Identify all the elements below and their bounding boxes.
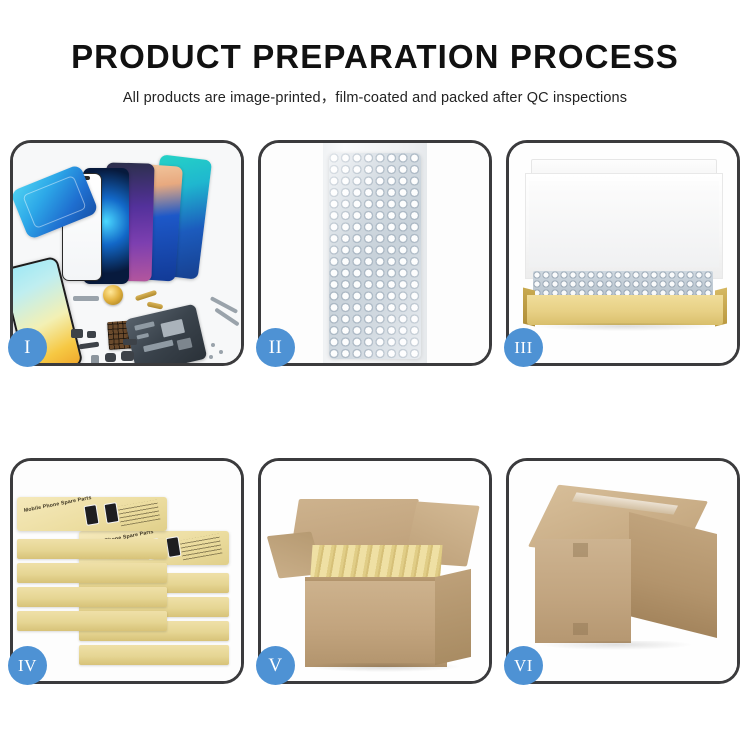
box-front-wall xyxy=(527,295,723,325)
box-print-spec-lines xyxy=(180,534,223,561)
carton-side-face xyxy=(629,512,717,638)
camera-module-part xyxy=(71,329,83,338)
step-panel-iii: III xyxy=(506,140,740,366)
carton-front-face xyxy=(305,581,447,667)
kraft-box xyxy=(17,539,167,559)
step-badge-iv: IV xyxy=(8,646,47,685)
phone-print-image xyxy=(104,502,120,524)
kraft-box xyxy=(17,587,167,607)
connector-part xyxy=(87,331,96,338)
screw-part xyxy=(219,350,223,354)
carton-shadow xyxy=(309,663,459,672)
step-panel-iv: Mobile Phone Spare Parts Mobile Phone Sp… xyxy=(10,458,244,684)
foam-liner xyxy=(529,181,719,267)
carton-side-face xyxy=(435,569,471,665)
kraft-box xyxy=(17,563,167,583)
box-print-label: Mobile Phone Spare Parts xyxy=(23,495,92,514)
step-image-vi xyxy=(509,461,737,681)
screw-part xyxy=(211,343,215,347)
carton-shadow xyxy=(541,641,691,650)
step-panel-i: I xyxy=(10,140,244,366)
small-chip-part xyxy=(123,339,137,345)
step-image-iv: Mobile Phone Spare Parts Mobile Phone Sp… xyxy=(13,461,241,681)
kraft-box xyxy=(79,645,229,665)
kraft-box xyxy=(17,611,167,631)
earpiece-part xyxy=(121,351,134,361)
step-image-iii xyxy=(509,143,737,363)
step-panel-v: V xyxy=(258,458,492,684)
vibrator-part xyxy=(105,353,116,362)
product-preparation-process-page: PRODUCT PREPARATION PROCESS All products… xyxy=(0,0,750,750)
sim-tray-part xyxy=(91,355,99,363)
page-subtitle: All products are image-printed，film-coat… xyxy=(0,86,750,107)
step-panel-ii: II xyxy=(258,140,492,366)
kraft-box-printed-lid: Mobile Phone Spare Parts xyxy=(17,497,167,531)
step-badge-ii: II xyxy=(256,328,295,367)
gold-coil-part xyxy=(103,285,123,305)
step-badge-vi: VI xyxy=(504,646,543,685)
step-image-ii xyxy=(261,143,489,363)
box-stack: Mobile Phone Spare Parts Mobile Phone Sp… xyxy=(13,469,241,679)
step-image-v xyxy=(261,461,489,681)
phone-print-image xyxy=(166,536,182,558)
step-image-i xyxy=(13,143,241,363)
step-panel-vi: VI xyxy=(506,458,740,684)
step-badge-v: V xyxy=(256,646,295,685)
box-shadow xyxy=(535,323,715,331)
step-badge-iii: III xyxy=(504,328,543,367)
process-step-grid: I II III xyxy=(10,140,740,685)
page-header: PRODUCT PREPARATION PROCESS All products… xyxy=(0,0,750,107)
carton-handle-tab xyxy=(573,543,588,557)
bubble-wrap-highlight xyxy=(329,153,421,359)
screw-part xyxy=(209,355,213,359)
step-badge-i: I xyxy=(8,328,47,367)
page-title: PRODUCT PREPARATION PROCESS xyxy=(0,38,750,76)
antenna-strip-part xyxy=(73,296,99,301)
phone-print-image xyxy=(84,504,100,526)
carton-handle-tab xyxy=(573,623,588,635)
box-print-spec-lines xyxy=(118,500,161,527)
